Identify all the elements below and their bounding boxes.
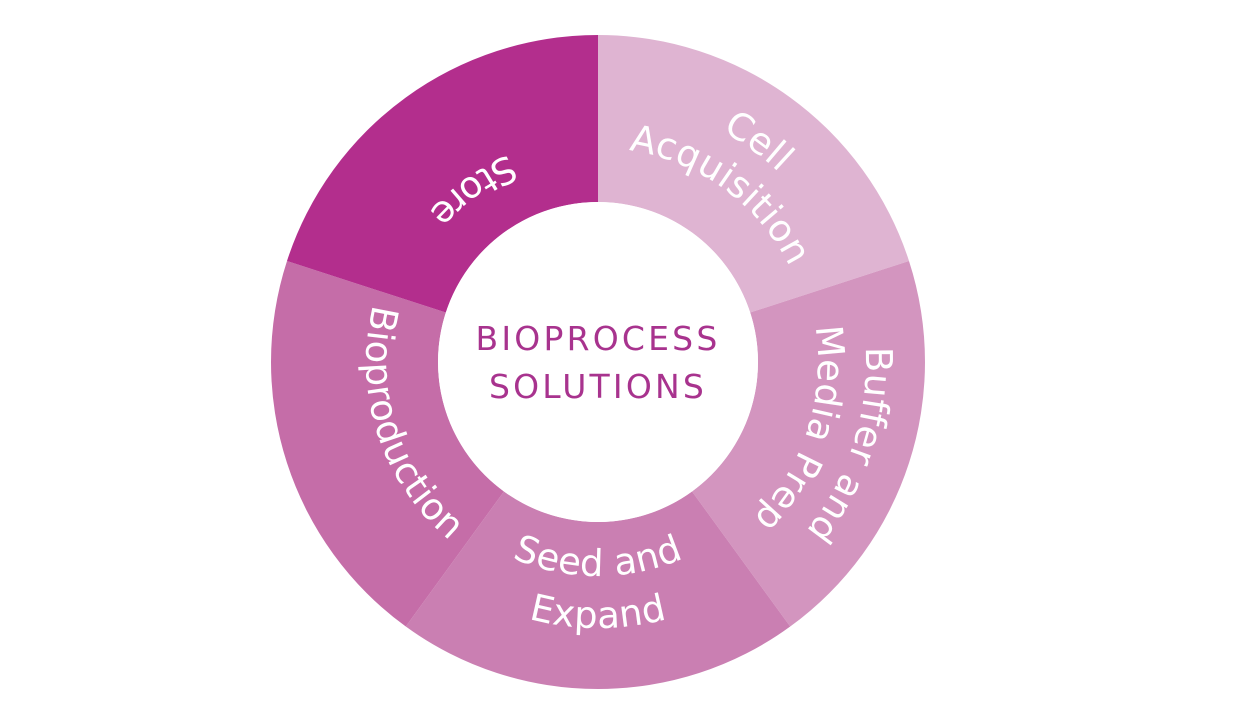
center-title-line1: BIOPROCESS (476, 319, 721, 358)
bioprocess-solutions-diagram: CellAcquisitionBuffer andMedia PrepSeed … (0, 0, 1260, 710)
center-title-line2: SOLUTIONS (489, 367, 707, 406)
bioprocess-cycle-wheel: CellAcquisitionBuffer andMedia PrepSeed … (0, 0, 1260, 710)
wheel-hub (438, 202, 758, 522)
